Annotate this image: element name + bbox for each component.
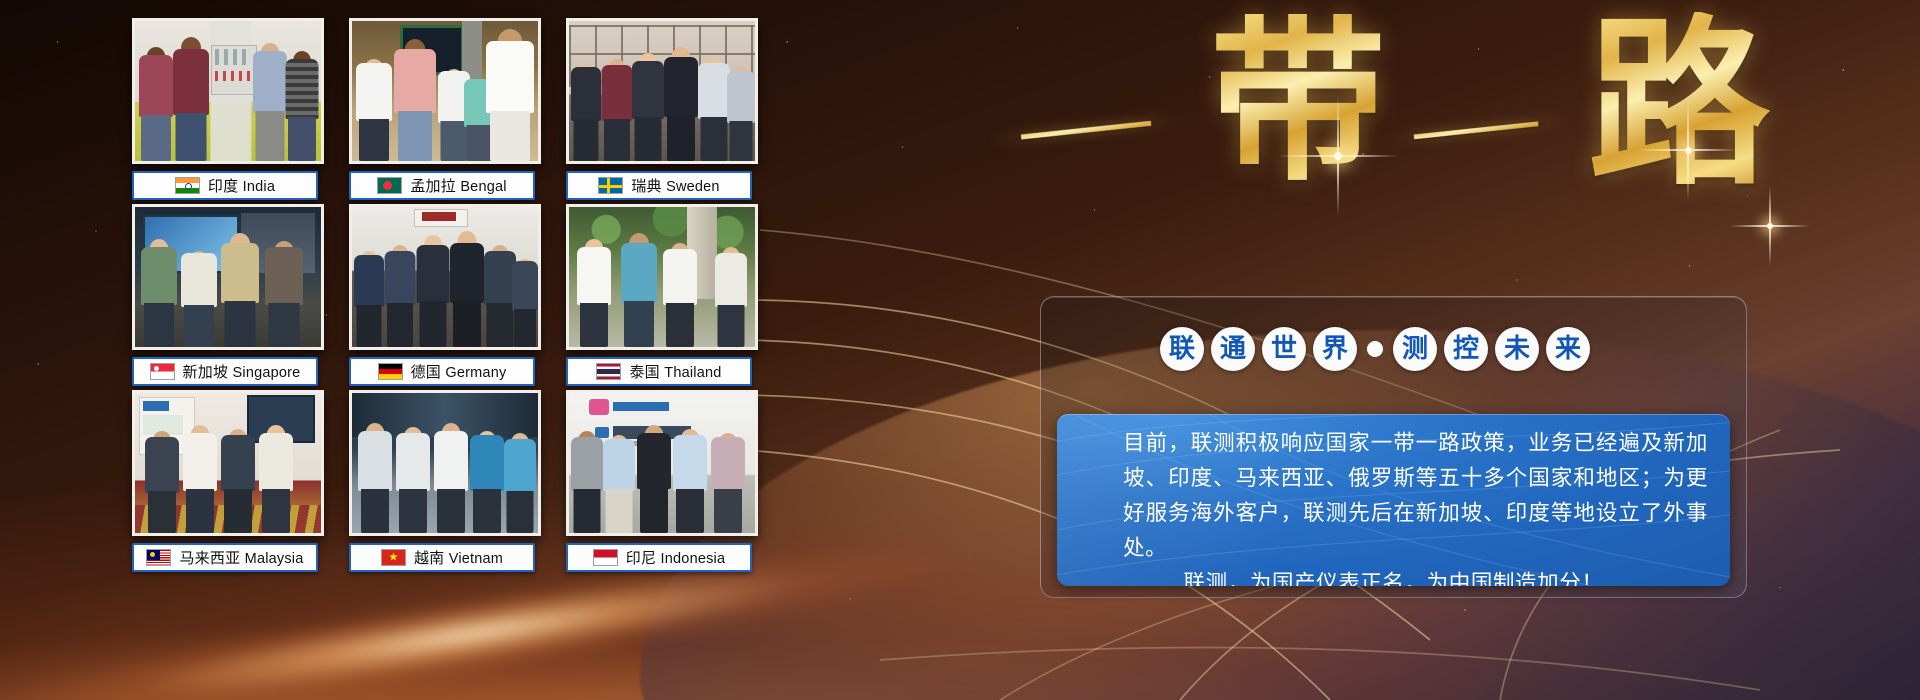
label-text-thailand: 泰国 Thailand <box>629 361 721 382</box>
photo-germany <box>349 204 541 350</box>
country-photo-grid: 印度 India 孟加拉 Bengal <box>132 18 752 670</box>
label-bengal: 孟加拉 Bengal <box>349 171 535 200</box>
label-india: 印度 India <box>132 171 318 200</box>
label-text-vietnam: 越南 Vietnam <box>414 547 503 568</box>
label-sweden: 瑞典 Sweden <box>566 171 752 200</box>
label-text-bengal: 孟加拉 Bengal <box>410 175 506 196</box>
slogan-char-8: 来 <box>1546 327 1590 371</box>
flag-germany-icon <box>378 363 403 380</box>
label-germany: 德国 Germany <box>349 357 535 386</box>
photo-cell-vietnam[interactable]: 越南 Vietnam <box>349 390 535 572</box>
label-indonesia: 印尼 Indonesia <box>566 543 752 572</box>
label-vietnam: 越南 Vietnam <box>349 543 535 572</box>
slogan-char-2: 通 <box>1211 327 1255 371</box>
slogan-char-4: 界 <box>1313 327 1357 371</box>
description-text: 目前，联测积极响应国家一带一路政策，业务已经遍及新加坡、印度、马来西亚、俄罗斯等… <box>1079 426 1708 586</box>
label-thailand: 泰国 Thailand <box>566 357 752 386</box>
photo-cell-singapore[interactable]: 新加坡 Singapore <box>132 204 318 386</box>
slogan-row: 联 通 世 界 测 控 未 来 <box>1160 327 1590 371</box>
label-singapore: 新加坡 Singapore <box>132 357 318 386</box>
photo-cell-malaysia[interactable]: 马来西亚 Malaysia <box>132 390 318 572</box>
slogan-char-6: 控 <box>1444 327 1488 371</box>
flag-bangladesh-icon <box>377 177 402 194</box>
label-text-malaysia: 马来西亚 Malaysia <box>179 547 303 568</box>
flag-thailand-icon <box>596 363 621 380</box>
calligraphy-char-4: 路 <box>1588 12 1770 194</box>
photo-indonesia <box>566 390 758 536</box>
calligraphy-headline: 一 带 一 路 <box>1040 8 1800 218</box>
photo-cell-indonesia[interactable]: 印尼 Indonesia <box>566 390 752 572</box>
slogan-char-1: 联 <box>1160 327 1204 371</box>
description-line-2: 联测，为国产仪表正名，为中国制造加分！ <box>1079 566 1708 586</box>
slogan-char-7: 未 <box>1495 327 1539 371</box>
photo-cell-germany[interactable]: 德国 Germany <box>349 204 535 386</box>
flag-malaysia-icon <box>146 549 171 566</box>
flag-sweden-icon <box>598 177 623 194</box>
photo-cell-sweden[interactable]: 瑞典 Sweden <box>566 18 752 200</box>
photo-vietnam <box>349 390 541 536</box>
photo-cell-thailand[interactable]: 泰国 Thailand <box>566 204 752 386</box>
flag-india-icon <box>175 177 200 194</box>
label-text-sweden: 瑞典 Sweden <box>631 175 719 196</box>
photo-bengal <box>349 18 541 164</box>
banner-stage: 一 带 一 路 联 通 世 界 测 控 未 来 <box>0 0 1920 700</box>
calligraphy-char-3: 一 <box>1408 104 1544 160</box>
slogan-char-3: 世 <box>1262 327 1306 371</box>
slogan-separator-dot <box>1367 341 1383 357</box>
label-text-indonesia: 印尼 Indonesia <box>626 547 725 568</box>
photo-singapore <box>132 204 324 350</box>
description-line-1: 目前，联测积极响应国家一带一路政策，业务已经遍及新加坡、印度、马来西亚、俄罗斯等… <box>1079 426 1708 566</box>
photo-cell-india[interactable]: 印度 India <box>132 18 318 200</box>
description-textbox: 目前，联测积极响应国家一带一路政策，业务已经遍及新加坡、印度、马来西亚、俄罗斯等… <box>1057 414 1730 586</box>
photo-india <box>132 18 324 164</box>
photo-sweden <box>566 18 758 164</box>
calligraphy-char-2: 带 <box>1210 14 1386 190</box>
calligraphy-char-1: 一 <box>1015 103 1157 161</box>
label-malaysia: 马来西亚 Malaysia <box>132 543 318 572</box>
label-text-singapore: 新加坡 Singapore <box>183 361 301 382</box>
flag-indonesia-icon <box>593 549 618 566</box>
flag-singapore-icon <box>150 363 175 380</box>
label-text-india: 印度 India <box>208 175 275 196</box>
photo-thailand <box>566 204 758 350</box>
photo-malaysia <box>132 390 324 536</box>
flag-vietnam-icon <box>381 549 406 566</box>
slogan-char-5: 测 <box>1393 327 1437 371</box>
label-text-germany: 德国 Germany <box>411 361 507 382</box>
photo-cell-bengal[interactable]: 孟加拉 Bengal <box>349 18 535 200</box>
